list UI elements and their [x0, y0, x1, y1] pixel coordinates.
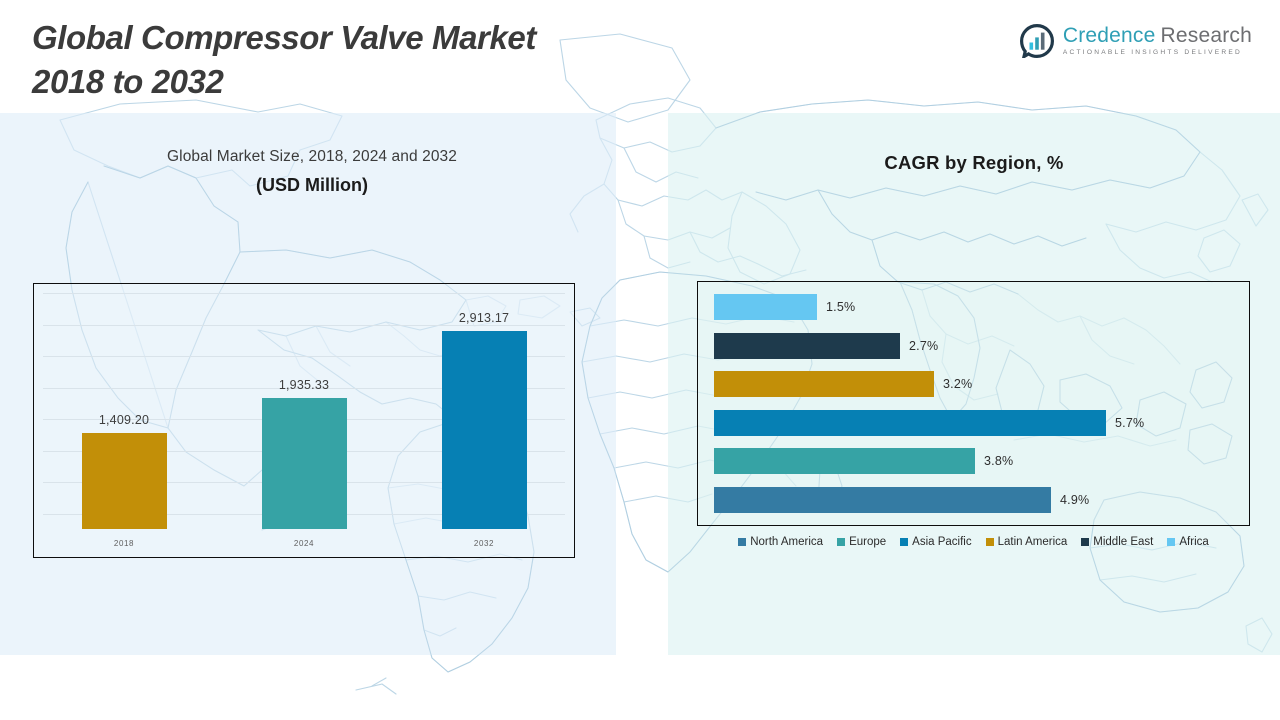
cagr-value-label: 4.9%	[1060, 493, 1089, 507]
legend-item: North America	[738, 536, 823, 548]
legend-swatch-icon	[1167, 538, 1175, 546]
market-size-bar-chart: 1,409.201,935.332,913.17 201820242032	[33, 283, 575, 558]
bar-column: 1,935.33	[215, 292, 393, 529]
cagr-row: 1.5%	[698, 294, 1249, 320]
x-axis-tick: 2032	[395, 539, 573, 548]
bar-column: 2,913.17	[395, 292, 573, 529]
cagr-row: 5.7%	[698, 410, 1249, 436]
left-chart-subtitle: Global Market Size, 2018, 2024 and 2032	[32, 148, 592, 166]
legend-swatch-icon	[1081, 538, 1089, 546]
bar-column: 1,409.20	[35, 292, 213, 529]
logo-brand-primary: Credence	[1063, 24, 1156, 47]
title-line-1: Global Compressor Valve Market	[32, 16, 772, 60]
bar-2032	[442, 331, 527, 529]
legend-label: Asia Pacific	[912, 536, 971, 548]
cagr-legend: North AmericaEuropeAsia PacificLatin Ame…	[697, 536, 1250, 548]
logo-tagline: Actionable Insights Delivered	[1063, 50, 1252, 57]
x-axis-tick: 2018	[35, 539, 213, 548]
bar-value-label: 2,913.17	[459, 311, 509, 325]
bar-europe	[714, 448, 975, 474]
cagr-value-label: 3.2%	[943, 377, 972, 391]
legend-item: Asia Pacific	[900, 536, 971, 548]
bar-value-label: 1,935.33	[279, 378, 329, 392]
legend-swatch-icon	[900, 538, 908, 546]
logo-wordmark: CredenceResearch Actionable Insights Del…	[1063, 25, 1252, 57]
legend-swatch-icon	[837, 538, 845, 546]
cagr-row: 4.9%	[698, 487, 1249, 513]
cagr-row: 3.8%	[698, 448, 1249, 474]
cagr-by-region-bar-chart: 1.5%2.7%3.2%5.7%3.8%4.9%	[697, 281, 1250, 526]
bar-latin-america	[714, 371, 934, 397]
logo-brand-secondary: Research	[1161, 24, 1252, 47]
right-chart-heading: CAGR by Region, %	[668, 152, 1280, 174]
infographic-canvas: Global Compressor Valve Market 2018 to 2…	[0, 0, 1280, 720]
bar-middle-east	[714, 333, 900, 359]
legend-label: Latin America	[998, 536, 1068, 548]
legend-item: Middle East	[1081, 536, 1153, 548]
bar-asia-pacific	[714, 410, 1106, 436]
x-axis-tick: 2024	[215, 539, 393, 548]
legend-label: North America	[750, 536, 823, 548]
left-chart-heading: Global Market Size, 2018, 2024 and 2032 …	[32, 148, 592, 196]
bar-2024	[262, 398, 347, 529]
bar-chart-circle-icon	[1020, 24, 1054, 58]
credence-research-logo: CredenceResearch Actionable Insights Del…	[1020, 24, 1252, 58]
legend-label: Africa	[1179, 536, 1208, 548]
legend-swatch-icon	[986, 538, 994, 546]
x-axis-labels: 201820242032	[34, 529, 574, 557]
bar-value-label: 1,409.20	[99, 413, 149, 427]
cagr-value-label: 5.7%	[1115, 416, 1144, 430]
cagr-row: 2.7%	[698, 333, 1249, 359]
vertical-bars: 1,409.201,935.332,913.17	[34, 292, 574, 529]
page-title: Global Compressor Valve Market 2018 to 2…	[32, 16, 772, 104]
cagr-row: 3.2%	[698, 371, 1249, 397]
bar-north-america	[714, 487, 1051, 513]
legend-item: Latin America	[986, 536, 1068, 548]
left-chart-units: (USD Million)	[32, 175, 592, 196]
bar-2018	[82, 433, 167, 529]
bar-africa	[714, 294, 817, 320]
right-chart-title: CAGR by Region, %	[668, 152, 1280, 174]
legend-item: Europe	[837, 536, 886, 548]
logo-brand: CredenceResearch	[1063, 25, 1252, 46]
header: Global Compressor Valve Market 2018 to 2…	[0, 0, 1280, 113]
legend-label: Europe	[849, 536, 886, 548]
legend-swatch-icon	[738, 538, 746, 546]
legend-item: Africa	[1167, 536, 1208, 548]
title-line-2: 2018 to 2032	[32, 60, 772, 104]
legend-label: Middle East	[1093, 536, 1153, 548]
cagr-value-label: 2.7%	[909, 339, 938, 353]
cagr-value-label: 3.8%	[984, 454, 1013, 468]
cagr-value-label: 1.5%	[826, 300, 855, 314]
